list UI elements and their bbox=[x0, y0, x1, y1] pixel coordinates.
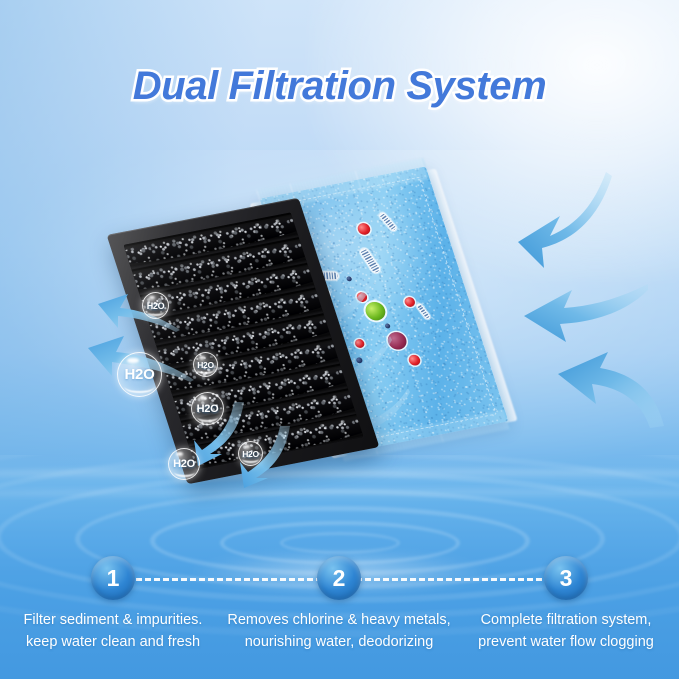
step-badge-3: 3 bbox=[544, 556, 588, 600]
step-line-2: nourishing water, deodorizing bbox=[226, 631, 452, 653]
h2o-bubble: H2O bbox=[238, 441, 263, 466]
step-line-2: prevent water flow clogging bbox=[453, 631, 679, 653]
step-item-3: 3 Complete filtration system, prevent wa… bbox=[453, 556, 679, 653]
step-badge-1: 1 bbox=[91, 556, 135, 600]
h2o-bubble: H2O bbox=[117, 352, 162, 397]
inflow-arrow-middle bbox=[520, 278, 650, 348]
filtration-diagram: H2O H2O H2O H2O H2O H2O bbox=[0, 0, 679, 560]
h2o-bubble: H2O bbox=[193, 352, 218, 377]
step-line-2: keep water clean and fresh bbox=[0, 631, 226, 653]
h2o-bubble: H2O bbox=[142, 292, 169, 319]
inflow-arrow-top bbox=[498, 168, 618, 288]
step-badge-2: 2 bbox=[317, 556, 361, 600]
step-line-1: Complete filtration system, bbox=[453, 609, 679, 631]
step-item-1: 1 Filter sediment & impurities. keep wat… bbox=[0, 556, 226, 653]
outflow-arrow-1 bbox=[96, 286, 182, 334]
step-text-2: Removes chlorine & heavy metals, nourish… bbox=[226, 609, 452, 653]
product-infographic: Dual Filtration System bbox=[0, 0, 679, 679]
steps-section: 1 Filter sediment & impurities. keep wat… bbox=[0, 556, 679, 676]
h2o-bubble: H2O bbox=[191, 392, 224, 425]
step-text-3: Complete filtration system, prevent wate… bbox=[453, 609, 679, 653]
step-text-1: Filter sediment & impurities. keep water… bbox=[0, 609, 226, 653]
step-item-2: 2 Removes chlorine & heavy metals, nouri… bbox=[226, 556, 452, 653]
h2o-bubble: H2O bbox=[168, 448, 200, 480]
inflow-arrow-bottom bbox=[538, 352, 668, 432]
step-line-1: Removes chlorine & heavy metals, bbox=[226, 609, 452, 631]
step-line-1: Filter sediment & impurities. bbox=[0, 609, 226, 631]
